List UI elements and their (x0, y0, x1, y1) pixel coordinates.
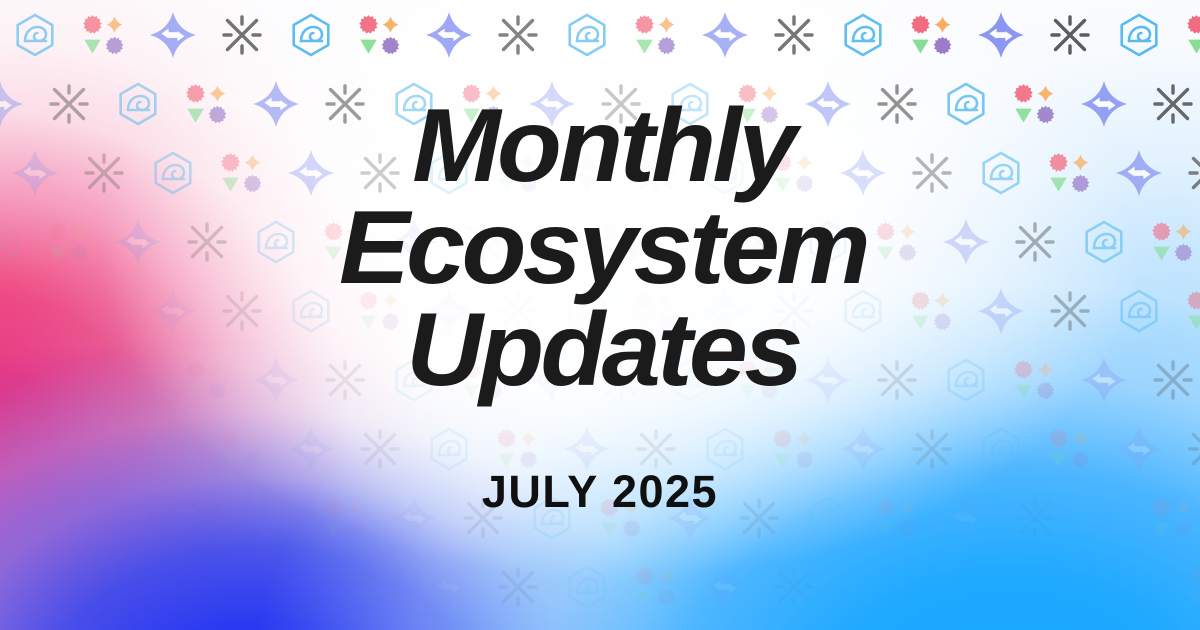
diamond-arrows-icon (690, 0, 759, 69)
flower-cluster-icon (448, 621, 517, 630)
hexagon-swirl-icon (552, 552, 621, 621)
hexagon-swirl-icon (655, 621, 724, 630)
page-title: Monthly Ecosystem Updates (0, 96, 1200, 402)
starburst-icon (483, 552, 552, 621)
starburst-icon (1035, 0, 1104, 69)
starburst-icon (759, 0, 828, 69)
hexagon-swirl-icon (552, 0, 621, 69)
flower-cluster-icon (69, 552, 138, 621)
hexagon-swirl-icon (276, 0, 345, 69)
hexagon-swirl-icon (0, 552, 69, 621)
flower-cluster-icon (69, 0, 138, 69)
starburst-icon (483, 0, 552, 69)
flower-cluster-icon (621, 552, 690, 621)
diamond-arrows-icon (138, 552, 207, 621)
diamond-arrows-icon (138, 0, 207, 69)
starburst-icon (759, 552, 828, 621)
hexagon-swirl-icon (1104, 0, 1173, 69)
flower-cluster-icon (897, 0, 966, 69)
icon-pattern-row (0, 0, 1200, 69)
diamond-arrows-icon (517, 621, 586, 630)
starburst-icon (207, 0, 276, 69)
title-line-3: Updates (0, 300, 1200, 402)
title-line-1: Monthly (0, 96, 1200, 198)
flower-cluster-icon (621, 0, 690, 69)
title-line-2: Ecosystem (0, 198, 1200, 300)
diamond-arrows-icon (414, 0, 483, 69)
diamond-arrows-icon (0, 621, 34, 630)
flower-cluster-icon (345, 552, 414, 621)
hexagon-swirl-icon (0, 0, 69, 69)
diamond-arrows-icon (690, 552, 759, 621)
diamond-arrows-icon (414, 552, 483, 621)
ecosystem-updates-banner: Monthly Ecosystem Updates JULY 2025 (0, 0, 1200, 630)
starburst-icon (34, 621, 103, 630)
flower-cluster-icon (1173, 552, 1200, 621)
hexagon-swirl-icon (828, 0, 897, 69)
icon-pattern-row (0, 552, 1200, 621)
diamond-arrows-icon (966, 0, 1035, 69)
flower-cluster-icon (724, 621, 793, 630)
starburst-icon (586, 621, 655, 630)
flower-cluster-icon (345, 0, 414, 69)
issue-date-label: JULY 2025 (0, 466, 1200, 518)
flower-cluster-icon (1173, 0, 1200, 69)
icon-pattern-row (0, 621, 1200, 630)
